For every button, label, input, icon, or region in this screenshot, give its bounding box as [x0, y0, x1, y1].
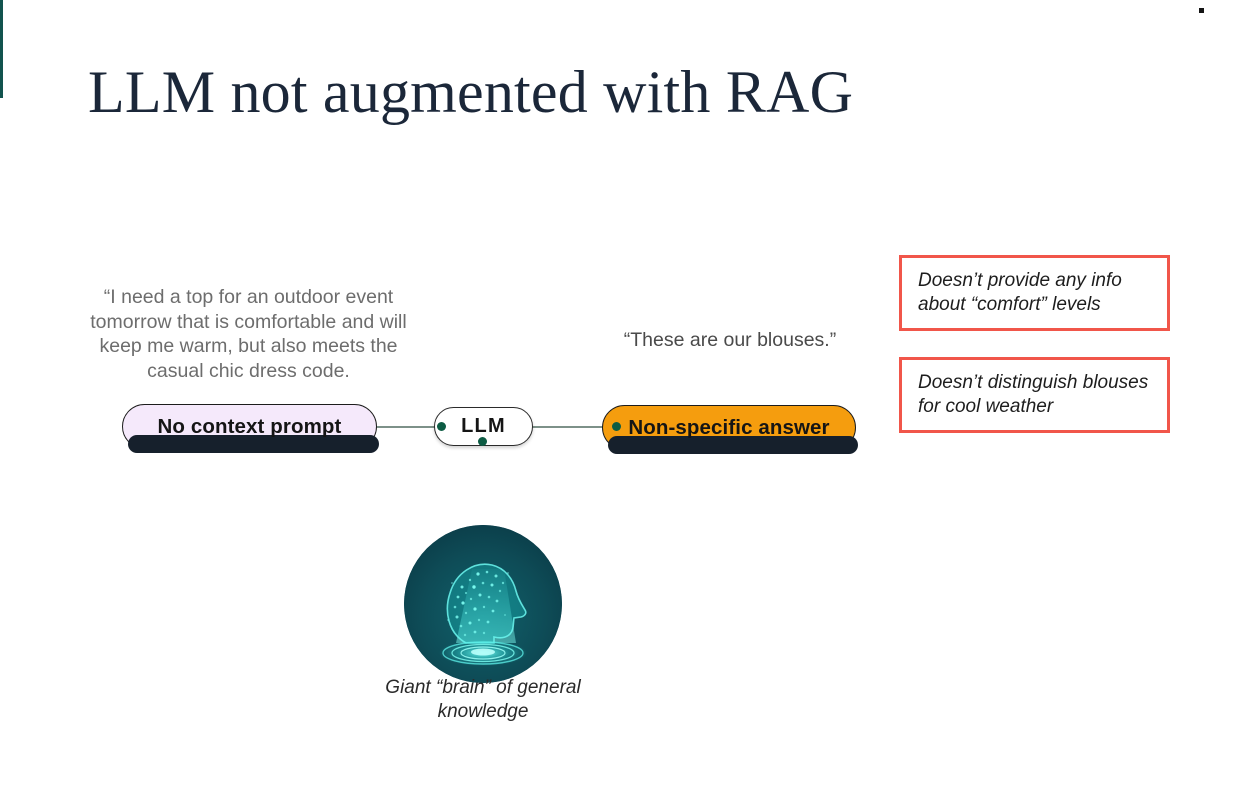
- connector-prompt-to-llm: [374, 426, 438, 428]
- node-no-context-prompt[interactable]: No context prompt: [122, 404, 377, 449]
- corner-artifact-dot: [1199, 8, 1204, 13]
- slide-canvas: LLM not augmented with RAG “I need a top…: [0, 0, 1247, 808]
- node-non-specific-answer-label: Non-specific answer: [628, 416, 829, 440]
- anchor-dot-llm-left: [437, 422, 446, 431]
- node-no-context-prompt-label: No context prompt: [158, 415, 342, 439]
- anchor-dot-answer-left: [612, 422, 621, 431]
- callout-box-cool-weather-text: Doesn’t distinguish blouses for cool wea…: [918, 371, 1151, 419]
- callout-box-comfort: Doesn’t provide any info about “comfort”…: [899, 255, 1170, 331]
- brain-caption: Giant “brain” of general knowledge: [352, 676, 614, 724]
- callout-box-comfort-text: Doesn’t provide any info about “comfort”…: [918, 269, 1151, 317]
- connector-llm-to-brain: [0, 0, 3, 98]
- anchor-dot-llm-bottom: [478, 437, 487, 446]
- node-llm-label: LLM: [461, 415, 506, 438]
- connector-llm-to-answer: [531, 426, 605, 428]
- callout-box-cool-weather: Doesn’t distinguish blouses for cool wea…: [899, 357, 1170, 433]
- page-title: LLM not augmented with RAG: [88, 58, 988, 127]
- user-prompt-quote: “I need a top for an outdoor event tomor…: [76, 285, 421, 383]
- ai-brain-head-circle-icon: [404, 525, 562, 683]
- llm-answer-quote: “These are our blouses.”: [565, 328, 895, 352]
- node-non-specific-answer[interactable]: Non-specific answer: [602, 405, 856, 450]
